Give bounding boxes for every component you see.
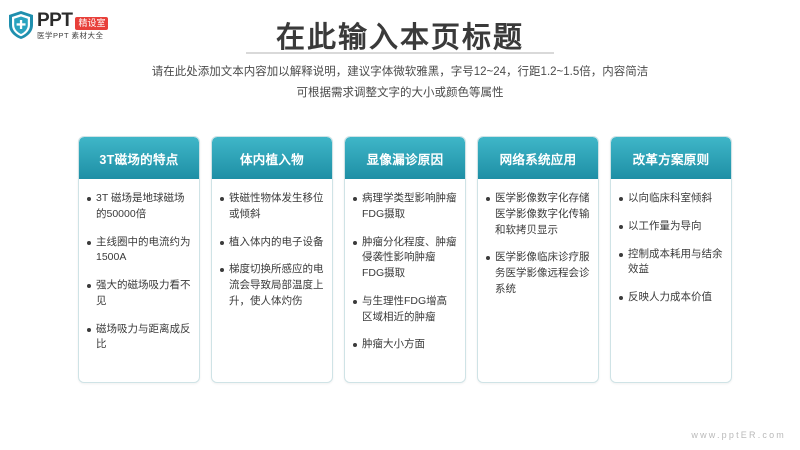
card-title: 显像漏诊原因 [345, 137, 465, 179]
list-item-label: 以工作量为导向 [628, 219, 702, 235]
card-title: 体内植入物 [212, 137, 332, 179]
list-item: 主线圈中的电流约为1500A [87, 235, 191, 267]
list-item: 肿瘤分化程度、肿瘤侵袭性影响肿瘤FDG摄取 [353, 235, 457, 282]
list-item-label: 铁磁性物体发生移位或倾斜 [229, 191, 324, 223]
bullet-dot-icon [619, 296, 623, 300]
list-item: 强大的磁场吸力看不见 [87, 278, 191, 310]
list-item-label: 梯度切换所感应的电流会导致局部温度上升，使人体灼伤 [229, 262, 324, 309]
list-item-label: 主线圈中的电流约为1500A [96, 235, 191, 267]
list-item: 磁场吸力与距离成反比 [87, 322, 191, 354]
subtitle-line-2: 可根据需求调整文字的大小或颜色等属性 [0, 83, 800, 104]
list-item: 植入体内的电子设备 [220, 235, 324, 251]
page-subtitle: 请在此处添加文本内容加以解释说明，建议字体微软雅黑，字号12~24，行距1.2~… [0, 62, 800, 105]
card-body: 铁磁性物体发生移位或倾斜植入体内的电子设备梯度切换所感应的电流会导致局部温度上升… [212, 179, 332, 382]
list-item: 肿瘤大小方面 [353, 337, 457, 353]
card-list: 3T磁场的特点3T 磁场是地球磁场的50000倍主线圈中的电流约为1500A强大… [78, 136, 732, 383]
card: 体内植入物铁磁性物体发生移位或倾斜植入体内的电子设备梯度切换所感应的电流会导致局… [211, 136, 333, 383]
list-item: 医学影像数字化存储医学影像数字化传输和软拷贝显示 [486, 191, 590, 238]
list-item: 控制成本耗用与结余效益 [619, 247, 723, 279]
list-item-label: 强大的磁场吸力看不见 [96, 278, 191, 310]
list-item-label: 与生理性FDG增高区域相近的肿瘤 [362, 294, 457, 326]
card: 3T磁场的特点3T 磁场是地球磁场的50000倍主线圈中的电流约为1500A强大… [78, 136, 200, 383]
bullet-dot-icon [220, 197, 224, 201]
list-item-label: 以向临床科室倾斜 [628, 191, 712, 207]
list-item: 反映人力成本价值 [619, 290, 723, 306]
list-item: 梯度切换所感应的电流会导致局部温度上升，使人体灼伤 [220, 262, 324, 309]
card-body: 以向临床科室倾斜以工作量为导向控制成本耗用与结余效益反映人力成本价值 [611, 179, 731, 382]
list-item-label: 控制成本耗用与结余效益 [628, 247, 723, 279]
list-item-label: 反映人力成本价值 [628, 290, 712, 306]
bullet-dot-icon [619, 253, 623, 257]
card-body: 3T 磁场是地球磁场的50000倍主线圈中的电流约为1500A强大的磁场吸力看不… [79, 179, 199, 382]
card-title: 网络系统应用 [478, 137, 598, 179]
list-item: 与生理性FDG增高区域相近的肿瘤 [353, 294, 457, 326]
bullet-dot-icon [353, 241, 357, 245]
list-item: 3T 磁场是地球磁场的50000倍 [87, 191, 191, 223]
card: 网络系统应用医学影像数字化存储医学影像数字化传输和软拷贝显示医学影像临床诊疗服务… [477, 136, 599, 383]
bullet-dot-icon [353, 197, 357, 201]
bullet-dot-icon [87, 284, 91, 288]
bullet-dot-icon [220, 268, 224, 272]
list-item: 医学影像临床诊疗服务医学影像远程会诊系统 [486, 250, 590, 297]
list-item-label: 肿瘤大小方面 [362, 337, 425, 353]
bullet-dot-icon [486, 256, 490, 260]
list-item-label: 植入体内的电子设备 [229, 235, 324, 251]
card: 改革方案原则以向临床科室倾斜以工作量为导向控制成本耗用与结余效益反映人力成本价值 [610, 136, 732, 383]
list-item-label: 病理学类型影响肿瘤FDG摄取 [362, 191, 457, 223]
list-item-label: 磁场吸力与距离成反比 [96, 322, 191, 354]
bullet-dot-icon [87, 197, 91, 201]
page-title: 在此输入本页标题 [0, 14, 800, 56]
list-item-label: 3T 磁场是地球磁场的50000倍 [96, 191, 191, 223]
card: 显像漏诊原因病理学类型影响肿瘤FDG摄取肿瘤分化程度、肿瘤侵袭性影响肿瘤FDG摄… [344, 136, 466, 383]
list-item: 病理学类型影响肿瘤FDG摄取 [353, 191, 457, 223]
list-item: 以向临床科室倾斜 [619, 191, 723, 207]
bullet-dot-icon [619, 197, 623, 201]
title-divider [246, 52, 554, 54]
bullet-dot-icon [353, 300, 357, 304]
list-item: 铁磁性物体发生移位或倾斜 [220, 191, 324, 223]
bullet-dot-icon [486, 197, 490, 201]
list-item-label: 肿瘤分化程度、肿瘤侵袭性影响肿瘤FDG摄取 [362, 235, 457, 282]
card-body: 医学影像数字化存储医学影像数字化传输和软拷贝显示医学影像临床诊疗服务医学影像远程… [478, 179, 598, 382]
bullet-dot-icon [220, 241, 224, 245]
card-title: 3T磁场的特点 [79, 137, 199, 179]
list-item-label: 医学影像数字化存储医学影像数字化传输和软拷贝显示 [495, 191, 590, 238]
card-body: 病理学类型影响肿瘤FDG摄取肿瘤分化程度、肿瘤侵袭性影响肿瘤FDG摄取与生理性F… [345, 179, 465, 382]
list-item-label: 医学影像临床诊疗服务医学影像远程会诊系统 [495, 250, 590, 297]
card-title: 改革方案原则 [611, 137, 731, 179]
bullet-dot-icon [87, 241, 91, 245]
footer-site: www.pptER.com [691, 430, 786, 440]
bullet-dot-icon [619, 225, 623, 229]
bullet-dot-icon [353, 343, 357, 347]
bullet-dot-icon [87, 328, 91, 332]
subtitle-line-1: 请在此处添加文本内容加以解释说明，建议字体微软雅黑，字号12~24，行距1.2~… [0, 62, 800, 83]
list-item: 以工作量为导向 [619, 219, 723, 235]
